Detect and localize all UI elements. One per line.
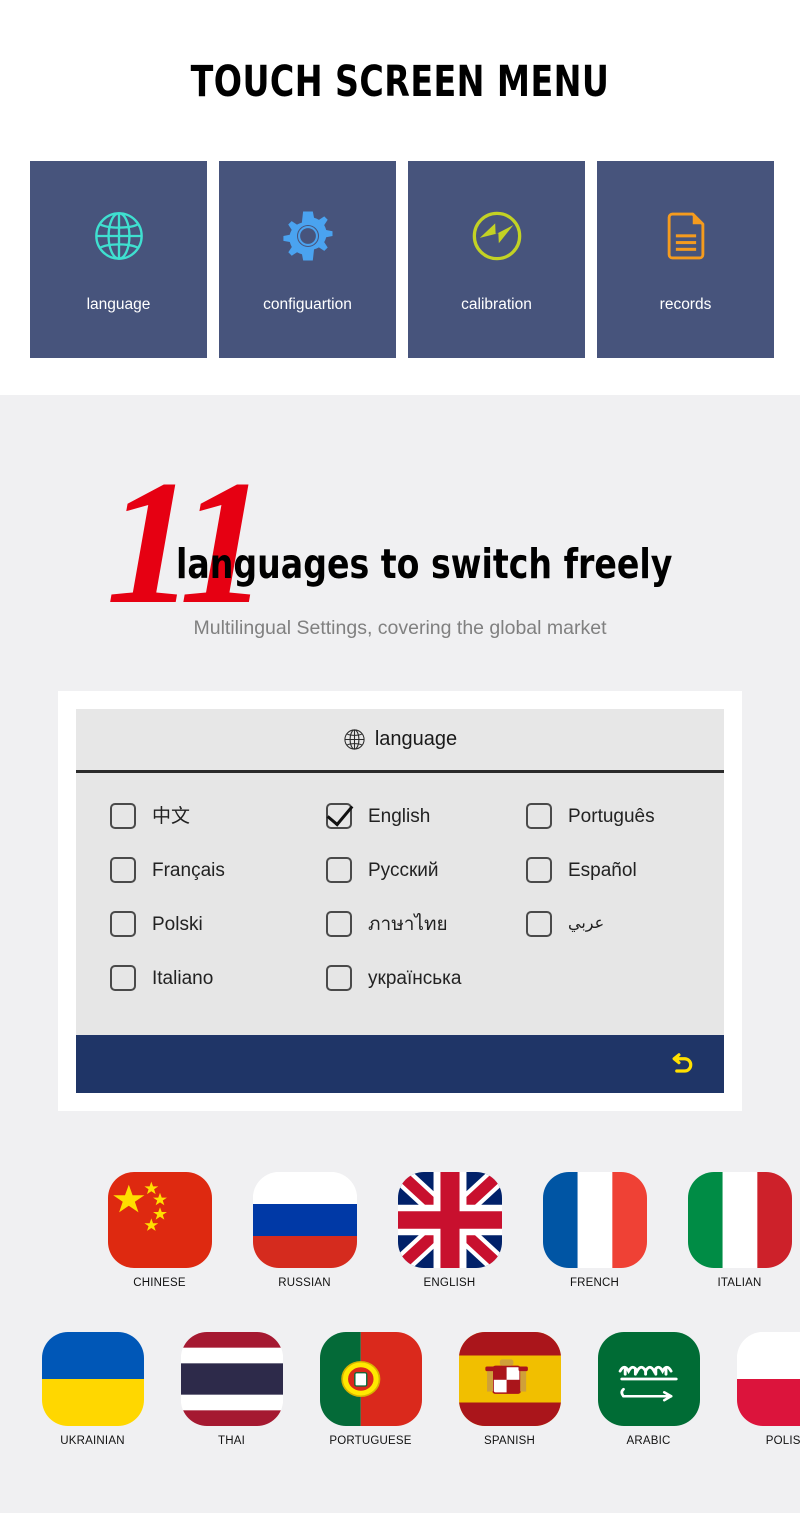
flag-item-polish: POLISH [728,1332,800,1447]
flag-thailand-icon [181,1332,283,1426]
language-label: Español [568,861,637,880]
language-option-zh[interactable]: 中文 [110,803,326,829]
document-icon [655,205,717,267]
dialog-footer [76,1035,724,1093]
flag-label: THAI [218,1435,245,1447]
flag-label: ARABIC [626,1435,670,1447]
language-label: ภาษาไทย [368,915,448,934]
checkbox[interactable] [326,911,352,937]
language-label: Português [568,807,655,826]
language-dialog-frame: language 中文 English Português Françai [58,691,742,1111]
flag-label: FRENCH [570,1277,619,1289]
globe-icon [343,728,366,751]
flag-item-italian: ITALIAN [678,1172,800,1289]
flag-item-thai: THAI [172,1332,291,1447]
checkbox-checked[interactable] [326,803,352,829]
language-option-ar[interactable]: عربي [526,911,690,937]
flag-label: UKRAINIAN [60,1435,124,1447]
dialog-header: language [76,709,724,773]
flag-china-icon [108,1172,212,1268]
menu-tile-calibration[interactable]: calibration [408,161,585,358]
flag-label: PORTUGUESE [329,1435,411,1447]
checkbox[interactable] [110,965,136,991]
flag-uk-icon [398,1172,502,1268]
checkbox[interactable] [526,857,552,883]
flag-label: ENGLISH [424,1277,476,1289]
flag-saudi-icon [598,1332,700,1426]
menu-tile-label: language [30,296,207,314]
top-section: TOUCH SCREEN MENU language [0,0,800,395]
language-option-pt[interactable]: Português [526,803,690,829]
flag-item-arabic: ARABIC [589,1332,708,1447]
flag-item-spanish: SPANISH [450,1332,569,1447]
flag-label: SPANISH [484,1435,535,1447]
checkbox[interactable] [526,911,552,937]
promo-headline: 11 languages to switch freely [0,455,800,620]
flag-poland-icon [737,1332,800,1426]
menu-tile-group: language configuartion [30,161,774,358]
checkbox[interactable] [326,857,352,883]
promo-headline-text: languages to switch freely [176,540,672,588]
checkbox[interactable] [110,803,136,829]
flag-label: ITALIAN [717,1277,761,1289]
language-list: 中文 English Português Français Русский [76,773,724,1035]
dialog-title: language [375,728,457,751]
gear-icon [277,205,339,267]
flag-france-icon [543,1172,647,1268]
back-arrow-icon[interactable] [668,1050,696,1078]
checkbox[interactable] [110,857,136,883]
language-label: Français [152,861,225,880]
language-label: English [368,807,430,826]
menu-tile-label: configuartion [219,296,396,314]
language-option-es[interactable]: Español [526,857,690,883]
language-dialog: language 中文 English Português Françai [76,709,724,1093]
language-label: Polski [152,915,203,934]
language-label: عربي [568,916,604,932]
flag-item-english: ENGLISH [388,1172,511,1289]
language-label: Русский [368,861,439,880]
lightning-icon [466,205,528,267]
language-label: 中文 [152,807,190,826]
language-option-th[interactable]: ภาษาไทย [326,911,526,937]
language-label: Italiano [152,969,213,988]
globe-icon [88,205,150,267]
page-root: TOUCH SCREEN MENU language [0,0,800,1513]
flag-portugal-icon [320,1332,422,1426]
flag-item-portuguese: PORTUGUESE [311,1332,430,1447]
menu-tile-configuration[interactable]: configuartion [219,161,396,358]
flag-spain-icon [459,1332,561,1426]
flag-label: POLISH [766,1435,800,1447]
checkbox[interactable] [110,911,136,937]
language-option-it[interactable]: Italiano [110,965,326,991]
language-option-en[interactable]: English [326,803,526,829]
flag-item-french: FRENCH [533,1172,656,1289]
language-option-uk[interactable]: українська [326,965,526,991]
flag-item-chinese: CHINESE [98,1172,221,1289]
checkbox[interactable] [526,803,552,829]
page-title: TOUCH SCREEN MENU [56,57,744,107]
language-option-fr[interactable]: Français [110,857,326,883]
menu-tile-records[interactable]: records [597,161,774,358]
menu-tile-language[interactable]: language [30,161,207,358]
flag-item-russian: RUSSIAN [243,1172,366,1289]
flag-item-ukrainian: UKRAINIAN [33,1332,152,1447]
menu-tile-label: calibration [408,296,585,314]
flag-russia-icon [253,1172,357,1268]
flag-italy-icon [688,1172,792,1268]
language-option-pl[interactable]: Polski [110,911,326,937]
flag-row-secondary: UKRAINIAN THAI [33,1332,800,1447]
language-option-ru[interactable]: Русский [326,857,526,883]
flag-label: CHINESE [133,1277,186,1289]
flag-row-primary: CHINESE RUSSIAN [98,1172,800,1289]
flag-ukraine-icon [42,1332,144,1426]
language-label: українська [368,969,461,988]
checkbox[interactable] [326,965,352,991]
flag-label: RUSSIAN [278,1277,331,1289]
menu-tile-label: records [597,296,774,314]
